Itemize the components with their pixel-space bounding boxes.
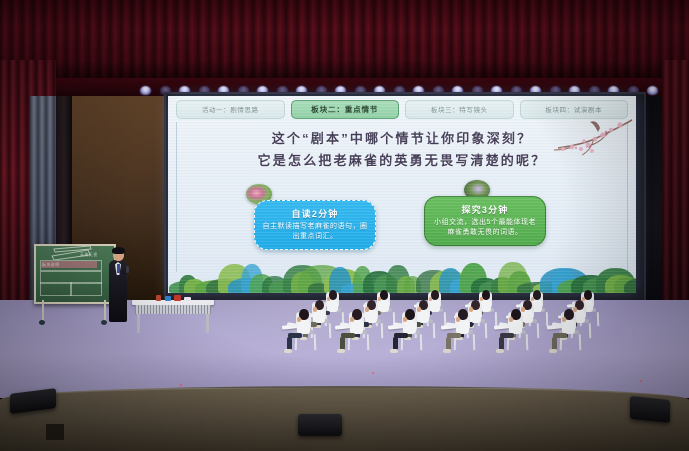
slide-tab-1[interactable]: 活动一：剧情思路 bbox=[176, 100, 285, 119]
chalkboard-leg bbox=[104, 300, 106, 322]
rolling-chalkboard: 板块说明 英勇无畏 bbox=[34, 244, 116, 304]
student-head bbox=[533, 290, 541, 300]
student-neck bbox=[365, 307, 369, 312]
student-head bbox=[584, 290, 592, 300]
teacher-hair bbox=[112, 247, 125, 254]
student-neck bbox=[313, 307, 317, 312]
student-head bbox=[431, 290, 439, 300]
floor-light-speck bbox=[180, 384, 182, 386]
slide-tab-3[interactable]: 板块三：特写镜头 bbox=[405, 100, 514, 119]
student-neck bbox=[521, 307, 525, 312]
activity-text: 小组交流，选出5个最能体现老麻雀勇敢无畏的词语。 bbox=[432, 218, 538, 238]
desk-leg bbox=[137, 314, 140, 333]
activity-bubble-group-discussion: 探究3分钟 小组交流，选出5个最能体现老麻雀勇敢无畏的词语。 bbox=[424, 196, 546, 246]
desk-modesty-panel bbox=[135, 305, 211, 314]
student-neck bbox=[297, 317, 301, 322]
auditorium-stage-photo: 活动一：剧情思路板块二：重点情节板块三：特写镜头板块四：试演剧本 这个“剧本”中… bbox=[0, 0, 689, 451]
student-shoe bbox=[549, 349, 557, 353]
student-shoe bbox=[496, 349, 504, 353]
stage-lamp bbox=[647, 86, 658, 95]
handheld-microphone-icon bbox=[126, 266, 129, 273]
chalkboard-caster bbox=[101, 320, 107, 325]
chalkboard-grid-cell bbox=[70, 282, 102, 296]
student-shoe bbox=[337, 349, 345, 353]
desk-object-box bbox=[174, 295, 181, 301]
student-neck bbox=[573, 307, 577, 312]
plum-blossom-branch-icon bbox=[548, 116, 634, 172]
slide-foliage-artwork bbox=[168, 259, 636, 293]
apron-vent bbox=[46, 424, 64, 440]
student-neck bbox=[562, 317, 566, 322]
activity-title: 探究3分钟 bbox=[432, 203, 538, 216]
floor-light-speck bbox=[372, 372, 374, 374]
stage-monitor-speaker bbox=[630, 396, 670, 423]
teacher-tie bbox=[117, 264, 120, 273]
desk-object-bottle bbox=[165, 296, 171, 301]
student-head bbox=[329, 290, 337, 300]
student-shoe bbox=[284, 349, 292, 353]
student-neck bbox=[456, 317, 460, 322]
desk-object-paper bbox=[184, 297, 191, 301]
student-neck bbox=[403, 317, 407, 322]
slide-tab-2[interactable]: 板块二：重点情节 bbox=[291, 100, 400, 119]
stage-monitor-speaker bbox=[298, 414, 342, 436]
stage-lamp bbox=[140, 86, 151, 95]
teaching-desk bbox=[132, 300, 214, 334]
activity-text: 自主默读描写老麻雀的语句，圈出重点词汇。 bbox=[262, 222, 368, 242]
student-head bbox=[380, 290, 388, 300]
student-neck bbox=[469, 307, 473, 312]
floor-light-speck bbox=[640, 380, 642, 382]
student-neck bbox=[417, 307, 421, 312]
chalkboard-grid-cell bbox=[40, 282, 72, 296]
stage-apron bbox=[0, 386, 689, 451]
student-head bbox=[482, 290, 490, 300]
student-shoe bbox=[443, 349, 451, 353]
activity-title: 自读2分钟 bbox=[262, 207, 368, 220]
activity-bubble-self-reading: 自读2分钟 自主默读描写老麻雀的语句，圈出重点词汇。 bbox=[254, 200, 376, 250]
desk-object-cup bbox=[156, 295, 161, 301]
student-neck bbox=[350, 317, 354, 322]
projection-screen: 活动一：剧情思路板块二：重点情节板块三：特写镜头板块四：试演剧本 这个“剧本”中… bbox=[168, 96, 636, 293]
desk-leg bbox=[206, 314, 209, 333]
chalkboard-leg bbox=[42, 300, 44, 322]
student-neck bbox=[509, 317, 513, 322]
student-shoe bbox=[390, 349, 398, 353]
chalkboard-caster bbox=[39, 320, 45, 325]
